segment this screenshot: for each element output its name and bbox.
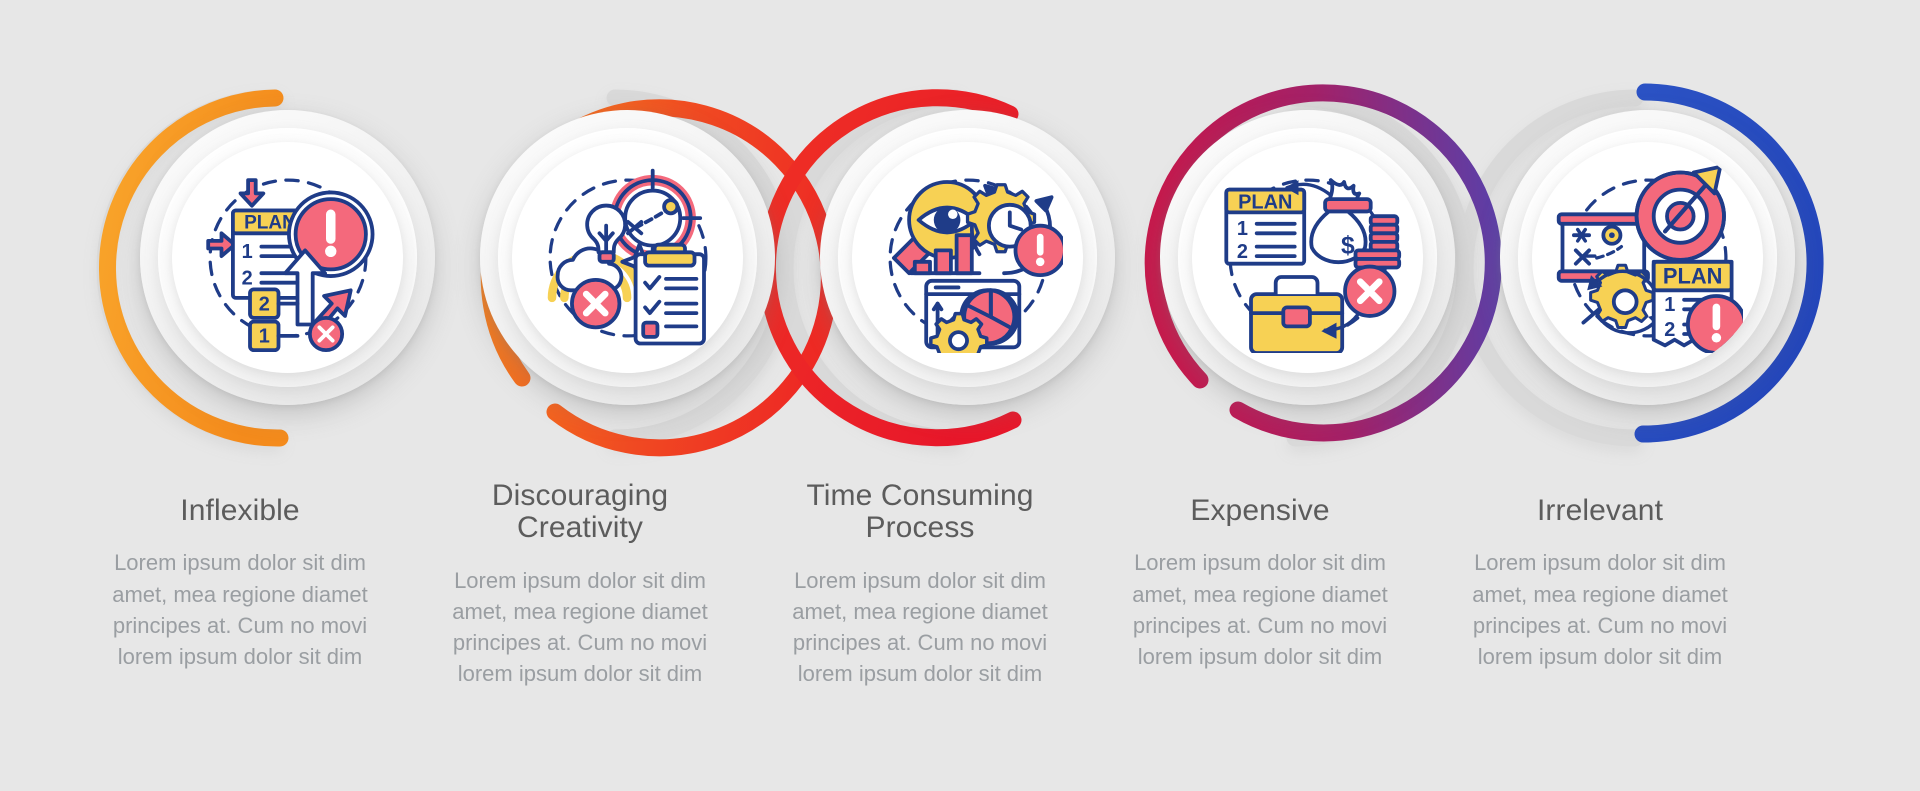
svg-text:1: 1 [1236, 218, 1247, 240]
step-description-2: Lorem ipsum dolor sit dim amet, mea regi… [435, 565, 725, 690]
svg-text:PLAN: PLAN [1662, 263, 1721, 288]
svg-text:2: 2 [241, 267, 252, 289]
disc-inner-3 [852, 142, 1083, 373]
svg-text:1: 1 [258, 325, 269, 347]
infographic-canvas: PLAN 1 2 [0, 0, 1920, 791]
step-title-4: Expensive [1115, 495, 1405, 527]
step-title-1: Inflexible [95, 495, 385, 527]
label-block-3: Time Consuming Process Lorem ipsum dolor… [775, 480, 1065, 690]
step-description-5: Lorem ipsum dolor sit dim amet, mea regi… [1455, 547, 1745, 672]
step-description-4: Lorem ipsum dolor sit dim amet, mea regi… [1115, 547, 1405, 672]
label-block-2: Discouraging Creativity Lorem ipsum dolo… [435, 480, 725, 690]
icon-analysis-time-delay-icon [852, 142, 1083, 373]
svg-text:1: 1 [1664, 294, 1675, 316]
label-block-1: Inflexible Lorem ipsum dolor sit dim ame… [95, 495, 385, 672]
svg-text:2: 2 [1664, 318, 1675, 340]
step-title-5: Irrelevant [1455, 495, 1745, 527]
svg-text:2: 2 [258, 293, 269, 315]
icon-plan-document-warning-icon: PLAN 1 2 [172, 142, 403, 373]
icon-plan-cost-briefcase-icon: PLAN 1 2 $ [1192, 142, 1423, 373]
svg-text:PLAN: PLAN [1238, 191, 1292, 213]
step-title-3: Time Consuming Process [775, 480, 1065, 545]
icon-off-target-plan-icon: PLAN 1 2 [1532, 142, 1763, 373]
disc-inner-4: PLAN 1 2 $ [1192, 142, 1423, 373]
disc-inner-1: PLAN 1 2 [172, 142, 403, 373]
label-block-4: Expensive Lorem ipsum dolor sit dim amet… [1115, 495, 1405, 672]
disc-inner-2 [512, 142, 743, 373]
svg-text:2: 2 [1236, 241, 1247, 263]
svg-text:1: 1 [241, 241, 252, 263]
svg-text:$: $ [1341, 232, 1355, 259]
step-description-3: Lorem ipsum dolor sit dim amet, mea regi… [775, 565, 1065, 690]
step-title-2: Discouraging Creativity [435, 480, 725, 545]
step-description-1: Lorem ipsum dolor sit dim amet, mea regi… [95, 547, 385, 672]
disc-inner-5: PLAN 1 2 [1532, 142, 1763, 373]
label-block-5: Irrelevant Lorem ipsum dolor sit dim ame… [1455, 495, 1745, 672]
icon-missed-target-creativity-icon [512, 142, 743, 373]
